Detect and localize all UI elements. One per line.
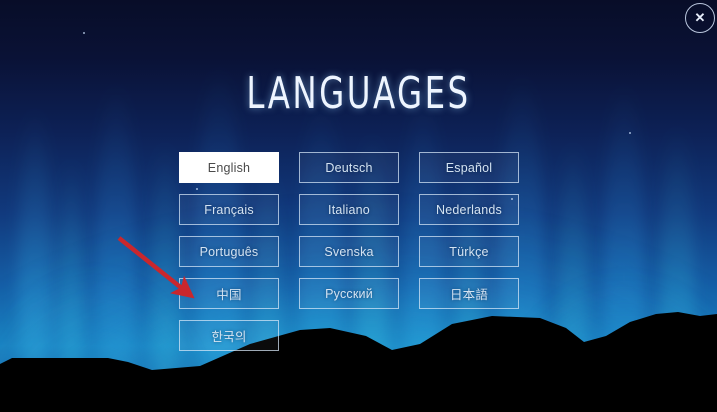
language-button-label: Türkçe [449,245,488,259]
language-button-label: Svenska [324,245,373,259]
language-button-3[interactable]: Français [179,194,279,225]
language-grid: EnglishDeutschEspañolFrançaisItalianoNed… [179,152,519,351]
language-button-5[interactable]: Nederlands [419,194,519,225]
language-button-label: Português [200,245,259,259]
language-button-label: Русский [325,287,373,301]
language-button-label: Español [446,161,493,175]
page-title: LANGUAGES [65,72,653,116]
language-button-11[interactable]: 日本語 [419,278,519,309]
language-button-1[interactable]: Deutsch [299,152,399,183]
language-button-6[interactable]: Português [179,236,279,267]
language-button-4[interactable]: Italiano [299,194,399,225]
language-button-12[interactable]: 한국의 [179,320,279,351]
close-button[interactable]: ✕ [685,3,715,33]
language-button-label: 中国 [216,284,241,303]
language-selection-screen: LANGUAGES ✕ EnglishDeutschEspañolFrançai… [0,0,717,412]
language-button-label: English [208,161,250,175]
star-speck [83,32,85,34]
close-icon: ✕ [695,10,706,26]
language-button-2[interactable]: Español [419,152,519,183]
language-button-10[interactable]: Русский [299,278,399,309]
language-button-label: 日本語 [450,284,488,303]
language-button-7[interactable]: Svenska [299,236,399,267]
language-button-label: Italiano [328,203,370,217]
language-button-0[interactable]: English [179,152,279,183]
language-button-label: Nederlands [436,203,502,217]
language-button-9[interactable]: 中国 [179,278,279,309]
star-speck [629,132,631,134]
language-button-8[interactable]: Türkçe [419,236,519,267]
language-button-label: 한국의 [211,326,246,345]
language-button-label: Français [204,203,254,217]
language-button-label: Deutsch [325,161,372,175]
